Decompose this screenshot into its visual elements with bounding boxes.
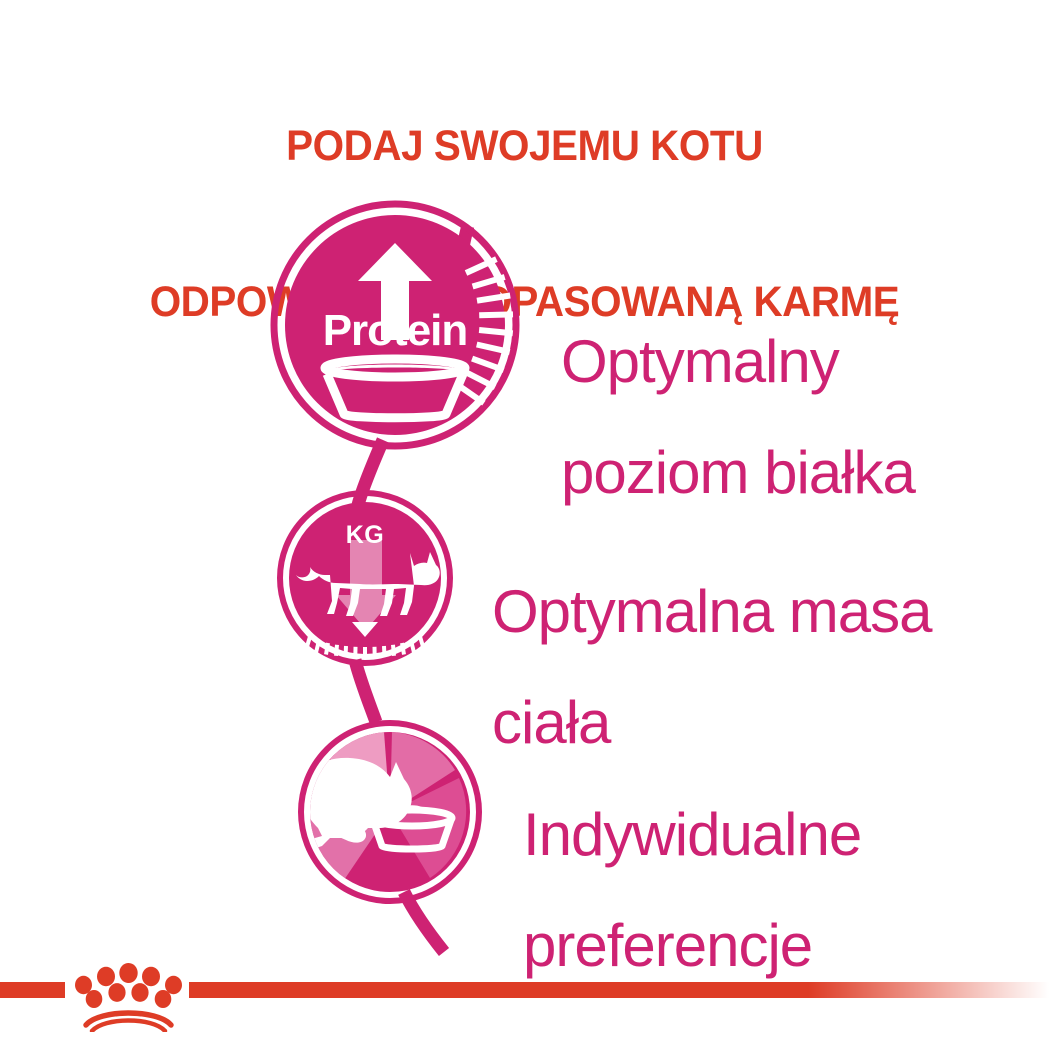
feature-icon-preferences[interactable] bbox=[301, 723, 479, 901]
feature-label-preferences-line1: Indywidualne bbox=[523, 801, 861, 868]
brand-bar-right-segment bbox=[189, 982, 1049, 998]
brand-bar-left-segment bbox=[0, 982, 65, 998]
feature-label-weight-line1: Optymalna masa bbox=[492, 578, 932, 645]
feature-label-protein-line1: Optymalny bbox=[561, 328, 839, 395]
feature-label-weight-line2: ciała bbox=[492, 689, 610, 756]
feature-icon-protein[interactable]: Protein bbox=[274, 204, 516, 446]
weight-icon-caption: KG bbox=[346, 521, 385, 549]
royal-canin-crown-logo bbox=[66, 957, 191, 1032]
feature-icon-weight[interactable]: KG bbox=[280, 493, 450, 663]
feature-label-weight: Optymalna masa ciała bbox=[492, 528, 932, 751]
feature-label-protein-line2: poziom białka bbox=[561, 439, 915, 506]
connector-dash-2-3 bbox=[355, 660, 376, 722]
protein-icon-caption: Protein bbox=[323, 306, 468, 355]
footer-brand-bar bbox=[0, 920, 1049, 1049]
feature-label-protein: Optymalny poziom białka bbox=[561, 278, 915, 501]
